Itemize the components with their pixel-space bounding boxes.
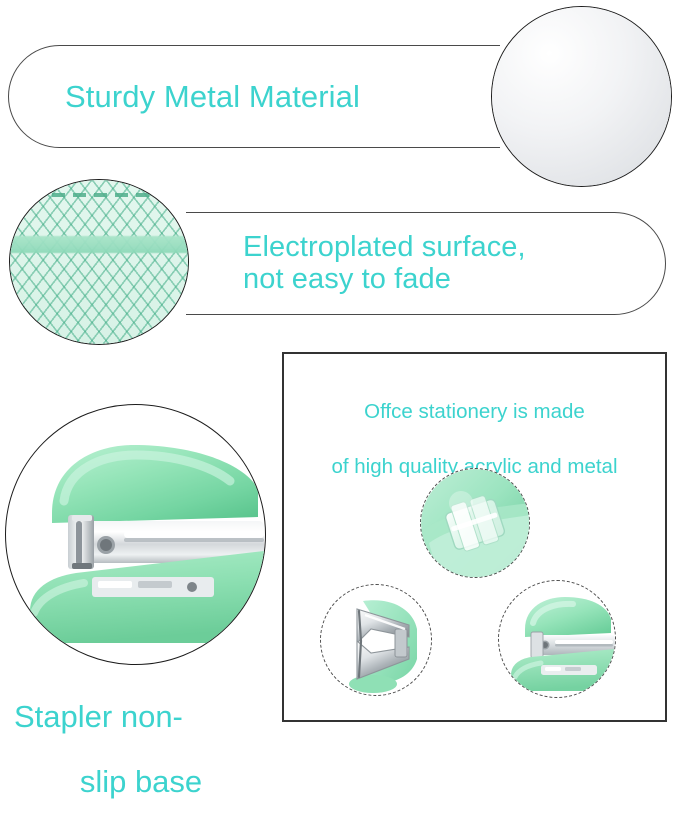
feature-heading-non-slip-base: Stapler non- slip base [6,668,258,831]
materials-panel-caption: Offce stationery is made of high quality… [284,371,665,480]
callout-pill-electroplated: Electroplated surface, not easy to fade [120,212,666,315]
stapler-small-art [499,581,616,698]
stapler-small-photo [498,580,616,698]
staple-remover-photo [320,584,432,696]
staple-remover-art [321,585,432,696]
caption-line-one: Stapler non- [6,701,258,734]
stapler-photo [5,404,266,665]
callout-pill-sturdy-metal: Sturdy Metal Material [8,45,568,148]
stapler-art [6,405,266,665]
mesh-surface-photo [9,179,189,345]
mesh-top-dashes [31,193,166,197]
feature-heading-sturdy-metal: Sturdy Metal Material [9,80,360,113]
mesh-rim-band [9,236,189,253]
tape-dispenser-photo [420,468,530,578]
metal-tubes-backdrop [492,7,671,186]
panel-caption-line-one: Offce stationery is made [364,400,585,423]
metal-tubes-photo [491,6,672,187]
mesh-texture [10,180,188,344]
infographic-canvas: Sturdy Metal Material [0,0,679,749]
caption-line-two: slip base [6,766,258,799]
tape-dispenser-art [421,469,530,578]
